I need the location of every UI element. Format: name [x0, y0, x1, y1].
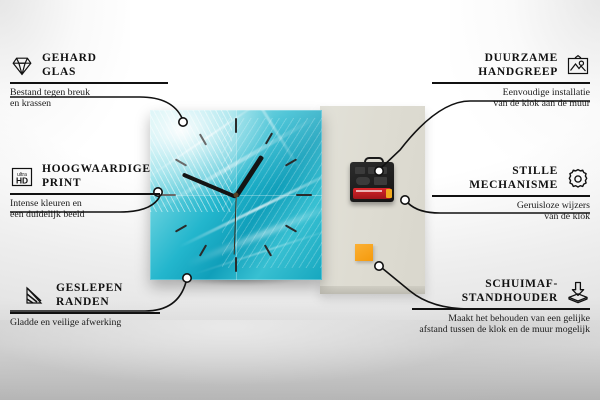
callout-title: SCHUIMAF-STANDHOUDER [462, 278, 558, 305]
mechanism-detail [374, 177, 387, 185]
clock-tick-3 [296, 194, 312, 196]
callout-description: Geruisloze wijzersvan de klok [420, 200, 590, 223]
callout-header: GESLEPENRANDEN [24, 282, 194, 309]
callout-schuimafstandhouder: SCHUIMAF-STANDHOUDER Maakt het behouden … [400, 278, 590, 336]
diamond-icon [10, 54, 34, 78]
battery [353, 188, 391, 199]
callout-title: STILLEMECHANISME [469, 165, 558, 192]
callout-geslepen-randen: GESLEPENRANDEN Gladde en veilige afwerki… [24, 282, 194, 328]
product-feature-infographic: GEHARDGLAS Bestand tegen breuken krassen… [0, 0, 600, 400]
callout-header: DUURZAMEHANDGREEP [420, 52, 590, 79]
battery-terminal [386, 189, 392, 198]
mechanism-detail [356, 177, 370, 185]
callout-description: Gladde en veilige afwerking [10, 317, 194, 329]
clock-hands-hub [234, 193, 239, 198]
callout-description: Maakt het behouden van een gelijkeafstan… [400, 313, 590, 336]
callout-rule [10, 312, 160, 314]
gear-icon [566, 167, 590, 191]
callout-rule [10, 193, 160, 195]
callout-header: ultra HD HOOGWAARDIGEPRINT [10, 163, 190, 190]
callout-title: HOOGWAARDIGEPRINT [42, 163, 151, 190]
battery-label [356, 190, 382, 192]
callout-title: GESLEPENRANDEN [56, 282, 123, 309]
callout-rule [432, 82, 590, 84]
mechanism-detail [355, 167, 365, 174]
mechanism-detail [368, 167, 375, 174]
callout-header: SCHUIMAF-STANDHOUDER [400, 278, 590, 305]
clock-tick-12 [235, 118, 237, 133]
foam-spacer-side [373, 246, 378, 261]
svg-text:HD: HD [16, 175, 28, 185]
clock-tick-6 [235, 257, 237, 272]
press-down-pad-icon [566, 280, 590, 304]
callout-title: GEHARDGLAS [42, 52, 97, 79]
foam-spacer [355, 244, 373, 261]
clock-mechanism [350, 162, 394, 202]
callout-description: Eenvoudige installatievan de klok aan de… [420, 87, 590, 110]
clock-tick-8 [175, 224, 187, 232]
callout-rule [412, 308, 590, 310]
callout-description: Intense kleuren eneen duidelijk beeld [10, 198, 190, 221]
callout-description: Bestand tegen breuken krassen [10, 87, 180, 110]
callout-title: DUURZAMEHANDGREEP [478, 52, 558, 79]
callout-gehard-glas: GEHARDGLAS Bestand tegen breuken krassen [10, 52, 180, 110]
callout-header: STILLEMECHANISME [420, 165, 590, 192]
ultra-hd-icon: ultra HD [10, 165, 34, 189]
callout-duurzame-handgreep: DUURZAMEHANDGREEP Eenvoudige installatie… [420, 52, 590, 110]
callout-hoogwaardige-print: ultra HD HOOGWAARDIGEPRINT Intense kleur… [10, 163, 190, 221]
beveled-edges-icon [24, 284, 48, 308]
mechanism-body [350, 162, 394, 202]
callout-header: GEHARDGLAS [10, 52, 180, 79]
callout-rule [432, 195, 590, 197]
callout-stille-mechanisme: STILLEMECHANISME Geruisloze wijzersvan d… [420, 165, 590, 223]
picture-frame-icon [566, 54, 590, 78]
callout-rule [10, 82, 168, 84]
mechanism-detail [378, 167, 387, 174]
